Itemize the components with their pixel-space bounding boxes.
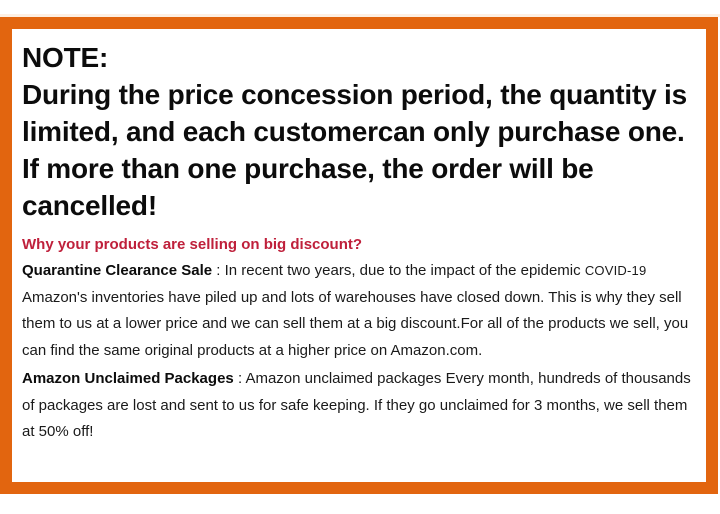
paragraph-quarantine-clearance-sale: Quarantine Clearance Sale : In recent tw…: [22, 258, 698, 364]
covid-19-term: COVID-19: [585, 263, 647, 278]
notice-inner-panel: NOTE: During the price concession period…: [12, 29, 706, 482]
page-top-strip: [0, 0, 720, 17]
notice-subheading: Why your products are selling on big dis…: [22, 234, 698, 256]
paragraph-label-amazon-unclaimed-packages: Amazon Unclaimed Packages: [22, 370, 234, 387]
paragraph-text-intro: In recent two years, due to the impact o…: [225, 262, 585, 279]
notice-frame: NOTE: During the price concession period…: [0, 17, 718, 494]
notice-heading: NOTE: During the price concession period…: [22, 39, 698, 224]
paragraph-label-quarantine-clearance-sale: Quarantine Clearance Sale: [22, 262, 212, 279]
paragraph-text-rest: Amazon's inventories have piled up and l…: [22, 289, 688, 359]
paragraph-amazon-unclaimed-packages: Amazon Unclaimed Packages : Amazon uncla…: [22, 366, 698, 446]
